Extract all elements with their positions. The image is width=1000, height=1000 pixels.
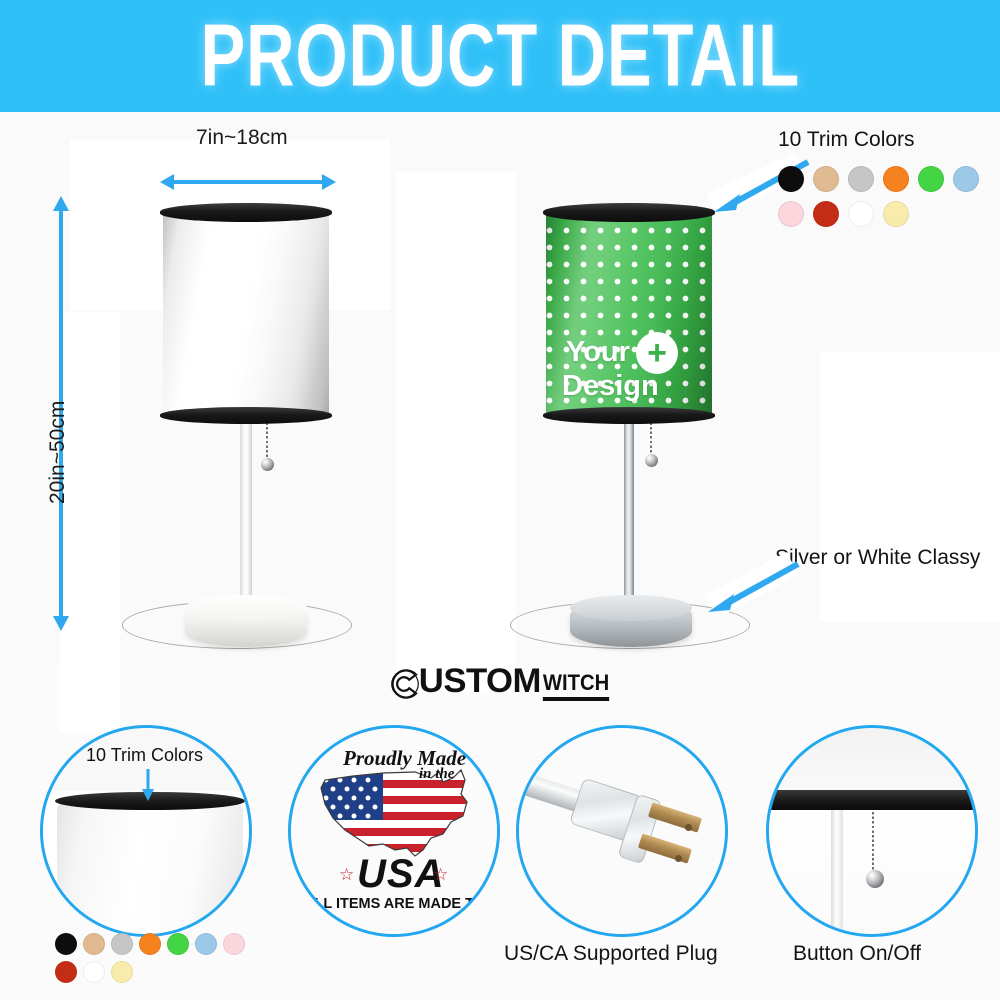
lampshade-white-bottom-trim [160, 407, 332, 424]
feature-row: 10 Trim Colors [0, 715, 1000, 1000]
trim-feature-inner-label: 10 Trim Colors [86, 745, 203, 766]
usa-star-left: ☆ [339, 865, 354, 885]
plug-feature-caption: US/CA Supported Plug [504, 942, 718, 966]
usa-script-line2: in the [419, 766, 454, 783]
swatch-red[interactable] [813, 201, 839, 227]
showcase-stage: 7in~18cm 20in~50cm [0, 112, 1000, 660]
lampshade-white-top-trim [160, 203, 332, 222]
swatch-bottom-tan[interactable] [83, 933, 105, 955]
brand-name-main: USTOM [418, 662, 540, 701]
swatch-gray[interactable] [848, 166, 874, 192]
page-title: PRODUCT DETAIL [200, 6, 800, 106]
feature-circle-made-in-usa: Proudly Made in the ☆ USA ☆ ALL ITEMS AR… [288, 725, 500, 937]
pull-chain-bead-silver [645, 454, 658, 467]
lamp-base-top-silver [570, 595, 692, 621]
lamp-base-top-white [185, 595, 307, 621]
swatch-light-blue[interactable] [953, 166, 979, 192]
base-finish-pointer-arrow [700, 552, 810, 622]
lampshade-green: Your + Design [546, 210, 712, 418]
lampshade-green-top-trim [543, 203, 715, 222]
switch-feature-shade-edge [766, 790, 978, 810]
plug-prong-lower-hole [675, 855, 682, 862]
header-banner: PRODUCT DETAIL [0, 0, 1000, 112]
feature-circle-switch [766, 725, 978, 937]
pull-chain-bead-white [261, 458, 274, 471]
switch-feature-chain [872, 812, 874, 874]
trim-color-swatches-top [778, 166, 1000, 227]
brand-c-icon [388, 667, 422, 701]
swatch-tan[interactable] [813, 166, 839, 192]
usa-tagline: ALL ITEMS ARE MADE TO ORDER! [304, 896, 500, 912]
plus-glyph: + [647, 336, 667, 370]
swatch-bottom-green[interactable] [167, 933, 189, 955]
swatch-bottom-white[interactable] [83, 961, 105, 983]
brand-logo-inner: USTOM WITCH [388, 662, 613, 701]
swatch-bottom-pink[interactable] [223, 933, 245, 955]
lamp-pole-white [240, 400, 252, 615]
trim-color-swatches-bottom [55, 933, 270, 983]
brand-logo: USTOM WITCH [0, 662, 1000, 701]
usa-big-text: USA [357, 852, 444, 897]
lamp-pole-silver [624, 400, 634, 615]
your-design-line1: Your [566, 338, 630, 368]
swatch-bottom-black[interactable] [55, 933, 77, 955]
lampshade-white-surface [163, 210, 329, 418]
swatch-orange[interactable] [883, 166, 909, 192]
swatch-yellow[interactable] [883, 201, 909, 227]
product-detail-infographic: PRODUCT DETAIL 7in~18cm 20in~50cm [0, 0, 1000, 1000]
swatch-bottom-red[interactable] [55, 961, 77, 983]
swatch-bottom-orange[interactable] [139, 933, 161, 955]
swatch-bottom-light-blue[interactable] [195, 933, 217, 955]
swatch-pink[interactable] [778, 201, 804, 227]
swatch-black[interactable] [778, 166, 804, 192]
brand-name-sub: WITCH [543, 670, 609, 701]
plain-white-lamp [0, 112, 400, 660]
feature-circle-plug [516, 725, 728, 937]
trim-feature-shade-body [57, 802, 243, 937]
usa-star-right: ☆ [433, 865, 448, 885]
bg-patch-4 [820, 352, 1000, 622]
trim-feature-down-arrow [138, 767, 158, 803]
plug-prong-upper-hole [685, 824, 692, 831]
swatch-green[interactable] [918, 166, 944, 192]
lampshade-green-bottom-trim [543, 407, 715, 424]
add-design-plus-icon: + [636, 332, 678, 374]
switch-feature-bead [866, 870, 884, 888]
swatch-white[interactable] [848, 201, 874, 227]
trim-colors-title: 10 Trim Colors [778, 128, 915, 152]
swatch-bottom-yellow[interactable] [111, 961, 133, 983]
your-design-line2: Design [562, 372, 659, 402]
swatch-bottom-gray[interactable] [111, 933, 133, 955]
switch-feature-caption: Button On/Off [793, 942, 921, 966]
lampshade-white [163, 210, 329, 418]
switch-feature-pole [831, 810, 843, 937]
